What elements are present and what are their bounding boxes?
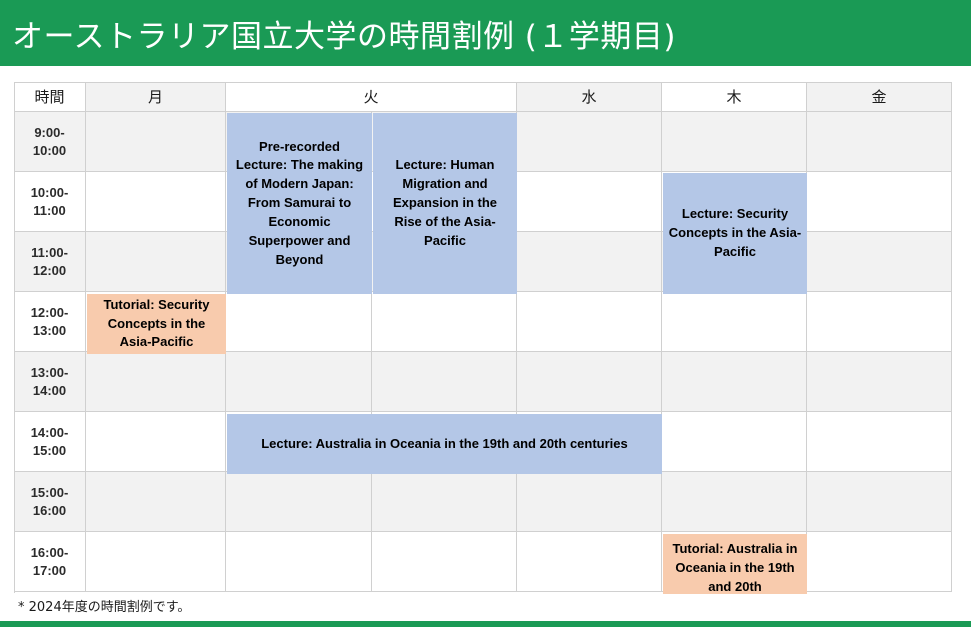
timetable-cell-r8-c2[interactable] (226, 532, 372, 592)
timetable-cell-r7-c1[interactable] (86, 472, 226, 532)
time-start: 10:00- (31, 184, 69, 202)
time-start: 9:00- (34, 124, 64, 142)
title-banner: オーストラリア国立大学の時間割例 (１学期目) (0, 0, 971, 66)
event-thu-security-lecture[interactable]: Lecture: Security Concepts in the Asia-P… (663, 173, 807, 294)
column-header-friday: 金 (807, 82, 952, 112)
time-label-5: 13:00-14:00 (14, 352, 86, 412)
time-end: 14:00 (33, 382, 66, 400)
time-start: 13:00- (31, 364, 69, 382)
time-start: 14:00- (31, 424, 69, 442)
time-end: 16:00 (33, 502, 66, 520)
footnote: * 2024年度の時間割例です。 (18, 596, 190, 615)
page-title: オーストラリア国立大学の時間割例 (１学期目) (0, 11, 676, 56)
timetable-grid: 時間 月 火 水 木 金 9:00-10:0010:00-11:0011:00-… (14, 82, 952, 593)
timetable-cell-r6-c6[interactable] (807, 412, 952, 472)
time-end: 17:00 (33, 562, 66, 580)
time-end: 15:00 (33, 442, 66, 460)
time-label-3: 11:00-12:00 (14, 232, 86, 292)
timetable-cell-r4-c5[interactable] (662, 292, 807, 352)
time-label-1: 9:00-10:00 (14, 112, 86, 172)
column-header-wednesday: 水 (517, 82, 662, 112)
timetable-cell-r2-c1[interactable] (86, 172, 226, 232)
timetable-cell-r4-c2[interactable] (226, 292, 372, 352)
timetable-cell-r1-c5[interactable] (662, 112, 807, 172)
timetable-cell-r2-c4[interactable] (517, 172, 662, 232)
column-header-thursday: 木 (662, 82, 807, 112)
time-end: 13:00 (33, 322, 66, 340)
column-header-monday: 月 (86, 82, 226, 112)
timetable-cell-r5-c2[interactable] (226, 352, 372, 412)
event-tue-australia-oceania-lecture[interactable]: Lecture: Australia in Oceania in the 19t… (227, 414, 662, 474)
bottom-accent-bar (0, 621, 971, 627)
column-header-time: 時間 (14, 82, 86, 112)
timetable-cell-r1-c4[interactable] (517, 112, 662, 172)
timetable-cell-r1-c6[interactable] (807, 112, 952, 172)
timetable-cell-r4-c4[interactable] (517, 292, 662, 352)
time-label-2: 10:00-11:00 (14, 172, 86, 232)
timetable-cell-r6-c5[interactable] (662, 412, 807, 472)
timetable-cell-r4-c6[interactable] (807, 292, 952, 352)
timetable-cell-r3-c4[interactable] (517, 232, 662, 292)
time-start: 15:00- (31, 484, 69, 502)
timetable-cell-r8-c4[interactable] (517, 532, 662, 592)
timetable-cell-r8-c6[interactable] (807, 532, 952, 592)
timetable-cell-r4-c3[interactable] (372, 292, 517, 352)
timetable-cell-r2-c6[interactable] (807, 172, 952, 232)
event-tue-human-migration[interactable]: Lecture: Human Migration and Expansion i… (373, 113, 517, 294)
timetable-cell-r5-c3[interactable] (372, 352, 517, 412)
timetable-cell-r7-c3[interactable] (372, 472, 517, 532)
timetable-cell-r8-c1[interactable] (86, 532, 226, 592)
timetable-cell-r6-c1[interactable] (86, 412, 226, 472)
event-mon-security-tutorial[interactable]: Tutorial: Security Concepts in the Asia-… (87, 294, 226, 354)
time-end: 10:00 (33, 142, 66, 160)
timetable-cell-r5-c1[interactable] (86, 352, 226, 412)
event-tue-prerecorded[interactable]: Pre-recorded Lecture: The making of Mode… (227, 113, 372, 294)
timetable-cell-r5-c4[interactable] (517, 352, 662, 412)
time-start: 16:00- (31, 544, 69, 562)
time-label-4: 12:00-13:00 (14, 292, 86, 352)
time-label-6: 14:00-15:00 (14, 412, 86, 472)
time-label-8: 16:00-17:00 (14, 532, 86, 592)
event-thu-australia-oceania-tutorial[interactable]: Tutorial: Australia in Oceania in the 19… (663, 534, 807, 594)
timetable-cell-r3-c1[interactable] (86, 232, 226, 292)
time-label-7: 15:00-16:00 (14, 472, 86, 532)
timetable-cell-r3-c6[interactable] (807, 232, 952, 292)
time-end: 12:00 (33, 262, 66, 280)
timetable-cell-r7-c5[interactable] (662, 472, 807, 532)
timetable-cell-r8-c3[interactable] (372, 532, 517, 592)
timetable-cell-r5-c5[interactable] (662, 352, 807, 412)
time-start: 12:00- (31, 304, 69, 322)
timetable-cell-r7-c6[interactable] (807, 472, 952, 532)
column-header-tuesday: 火 (226, 82, 517, 112)
timetable-cell-r5-c6[interactable] (807, 352, 952, 412)
time-start: 11:00- (31, 244, 68, 262)
timetable-cell-r7-c4[interactable] (517, 472, 662, 532)
timetable-cell-r1-c1[interactable] (86, 112, 226, 172)
time-end: 11:00 (33, 202, 66, 220)
timetable-page: オーストラリア国立大学の時間割例 (１学期目) 時間 月 火 水 木 金 9:0… (0, 0, 971, 627)
timetable-cell-r7-c2[interactable] (226, 472, 372, 532)
